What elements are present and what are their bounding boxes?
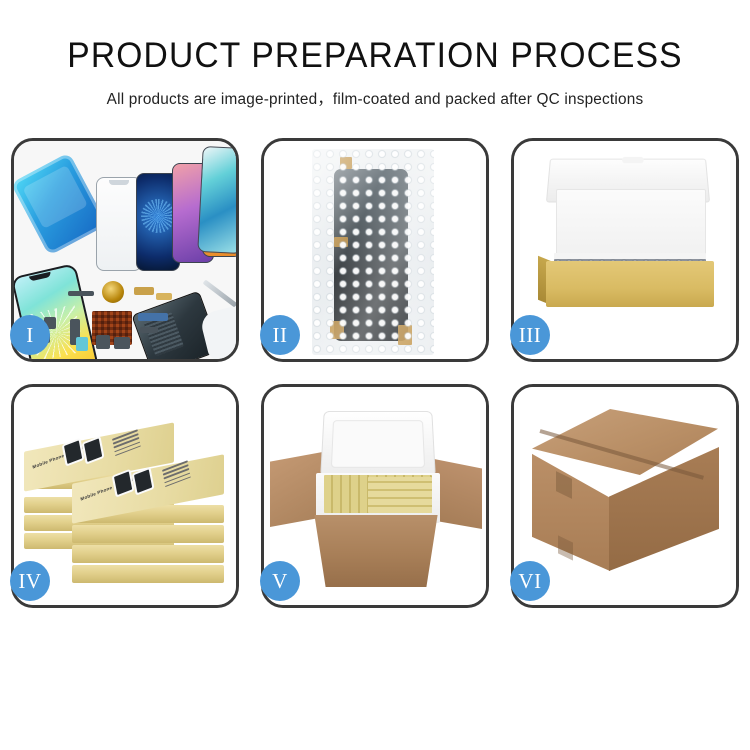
- stacked-box-front-6: [72, 565, 224, 583]
- page-subtitle: All products are image-printed，film-coat…: [4, 87, 747, 109]
- process-step-3[interactable]: III: [511, 138, 739, 362]
- bubble-wrap-bag: [312, 149, 434, 355]
- small-part-2: [134, 287, 154, 295]
- tweezers-tool: [203, 279, 236, 307]
- phone-teal-wallpaper: [197, 146, 236, 254]
- speaker-coil-part: [102, 281, 124, 303]
- kraft-box-front: [546, 261, 714, 307]
- small-part-3: [156, 293, 172, 300]
- small-part-1: [68, 291, 94, 296]
- step-badge-4: IV: [10, 561, 50, 601]
- plastic-sheen: [312, 149, 434, 355]
- small-part-9: [114, 337, 130, 349]
- small-part-6: [140, 327, 158, 333]
- box-stack: Mobile Phone Spare Parts Mobile Phone Sp…: [20, 413, 232, 591]
- kraft-boxes-inside-2: [368, 477, 432, 513]
- process-step-5[interactable]: V: [261, 384, 489, 608]
- step-badge-6: VI: [510, 561, 550, 601]
- process-step-1[interactable]: I: [11, 138, 239, 362]
- small-part-7: [76, 337, 88, 351]
- white-foam-pad: [556, 189, 706, 263]
- stacked-box-front-4: [72, 525, 224, 543]
- page-header: PRODUCT PREPARATION PROCESS All products…: [0, 0, 750, 109]
- step-badge-1: I: [10, 315, 50, 355]
- step-badge-3: III: [510, 315, 550, 355]
- step-badge-5: V: [260, 561, 300, 601]
- foam-box-lid: [320, 411, 436, 477]
- process-grid: I II III: [0, 138, 750, 608]
- step-badge-2: II: [260, 315, 300, 355]
- page-title: PRODUCT PREPARATION PROCESS: [15, 38, 735, 73]
- adhesive-frame-part: [14, 152, 107, 255]
- small-part-8: [96, 335, 110, 349]
- process-step-4[interactable]: Mobile Phone Spare Parts Mobile Phone Sp…: [11, 384, 239, 608]
- process-step-2[interactable]: II: [261, 138, 489, 362]
- carton-body: [306, 515, 446, 587]
- small-part-5: [138, 313, 168, 321]
- stacked-box-front-5: [72, 545, 224, 563]
- process-step-6[interactable]: VI: [511, 384, 739, 608]
